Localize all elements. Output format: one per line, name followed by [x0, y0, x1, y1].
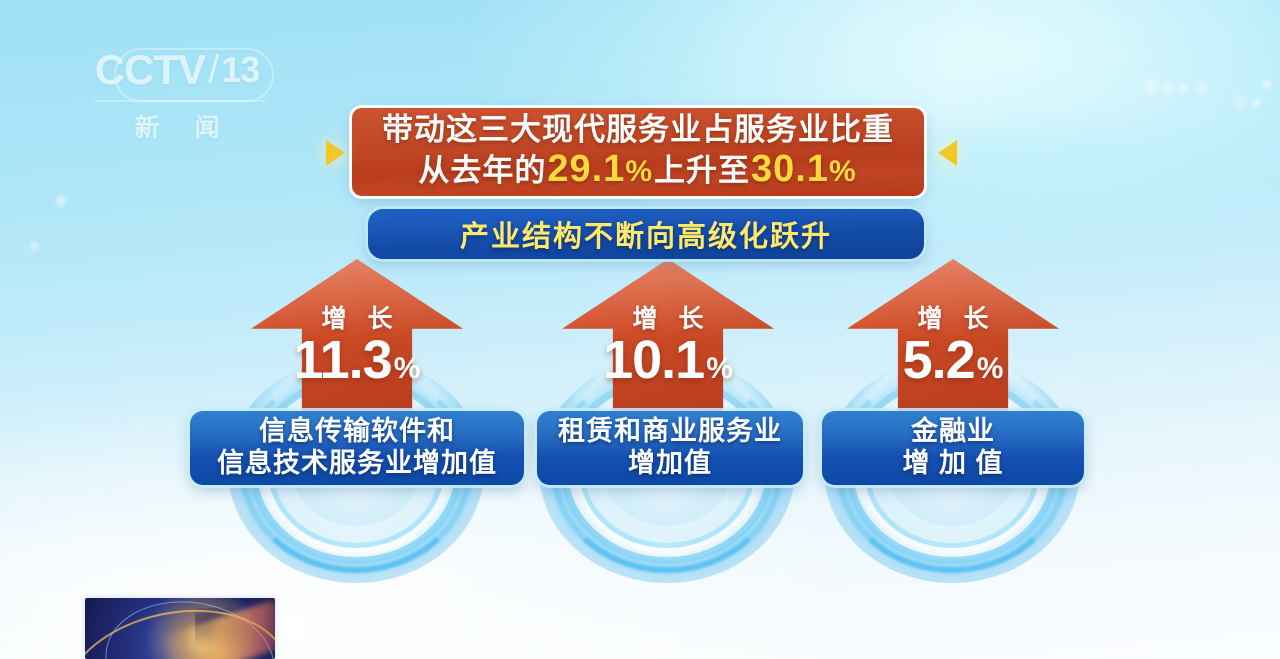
headline-value-from-number: 29.1: [547, 148, 625, 190]
headline-value-from: 29.1%: [547, 148, 653, 191]
arrow-growth-value: 5.2%: [847, 329, 1059, 391]
bokeh-dot: [1252, 98, 1261, 107]
category-label-1: 信息传输软件和 信息技术服务业增加值: [190, 411, 524, 485]
category-label-3-line-1: 金融业: [911, 416, 995, 448]
bokeh-dot: [1180, 84, 1188, 92]
headline-line-2: 从去年的 29.1% 上升至 30.1%: [418, 148, 857, 191]
arrow-value-number: 10.1: [603, 330, 704, 390]
category-label-1-line-2: 信息技术服务业增加值: [217, 448, 497, 480]
bokeh-dot: [1196, 82, 1207, 93]
bokeh-dot: [1145, 80, 1158, 93]
headline-value-to-number: 30.1: [751, 148, 829, 190]
category-label-2: 租赁和商业服务业 增加值: [537, 411, 803, 485]
play-triangle-right-icon: [326, 140, 345, 166]
growth-arrow-3: 增 长 5.2%: [847, 259, 1059, 429]
arrow-growth-value: 11.3%: [251, 329, 463, 391]
logo-underline: [94, 100, 266, 102]
bokeh-dot: [1234, 96, 1246, 108]
arrow-value-percent: %: [394, 352, 421, 385]
play-triangle-left-icon: [938, 140, 957, 166]
category-label-2-line-1: 租赁和商业服务业: [558, 416, 782, 448]
arrow-value-number: 11.3: [294, 330, 392, 390]
headline-value-to: 30.1%: [751, 148, 857, 191]
headline-value-from-percent: %: [625, 155, 653, 188]
bokeh-dot: [1262, 80, 1271, 89]
arrow-value-percent: %: [706, 352, 733, 385]
globe-graphic: [85, 598, 275, 659]
subtitle-banner: 产业结构不断向高级化跃升: [368, 209, 924, 259]
headline-banner: 带动这三大现代服务业占服务业比重 从去年的 29.1% 上升至 30.1%: [352, 108, 924, 196]
headline-value-to-percent: %: [829, 155, 857, 188]
subtitle-text: 产业结构不断向高级化跃升: [460, 213, 832, 255]
category-label-1-line-1: 信息传输软件和: [259, 416, 455, 448]
bokeh-dot: [1163, 82, 1174, 93]
logo-oval-outline: [114, 48, 274, 102]
category-label-3-line-2: 增 加 值: [902, 448, 1003, 480]
bokeh-dot: [56, 196, 66, 206]
arrow-value-number: 5.2: [903, 330, 975, 390]
arrow-growth-value: 10.1%: [562, 329, 774, 391]
bokeh-dot: [30, 242, 38, 250]
growth-arrow-1: 增 长 11.3%: [251, 259, 463, 429]
category-label-3: 金融业 增 加 值: [822, 411, 1084, 485]
logo-subtitle: 新 闻: [72, 108, 282, 144]
channel-logo: CCTV / 13 新 闻: [72, 46, 282, 134]
arrow-value-percent: %: [977, 352, 1004, 385]
category-label-2-line-2: 增加值: [628, 448, 712, 480]
headline-prefix: 从去年的: [418, 154, 546, 189]
headline-middle: 上升至: [654, 154, 750, 189]
headline-line-1: 带动这三大现代服务业占服务业比重: [382, 113, 894, 148]
growth-arrow-2: 增 长 10.1%: [562, 259, 774, 429]
